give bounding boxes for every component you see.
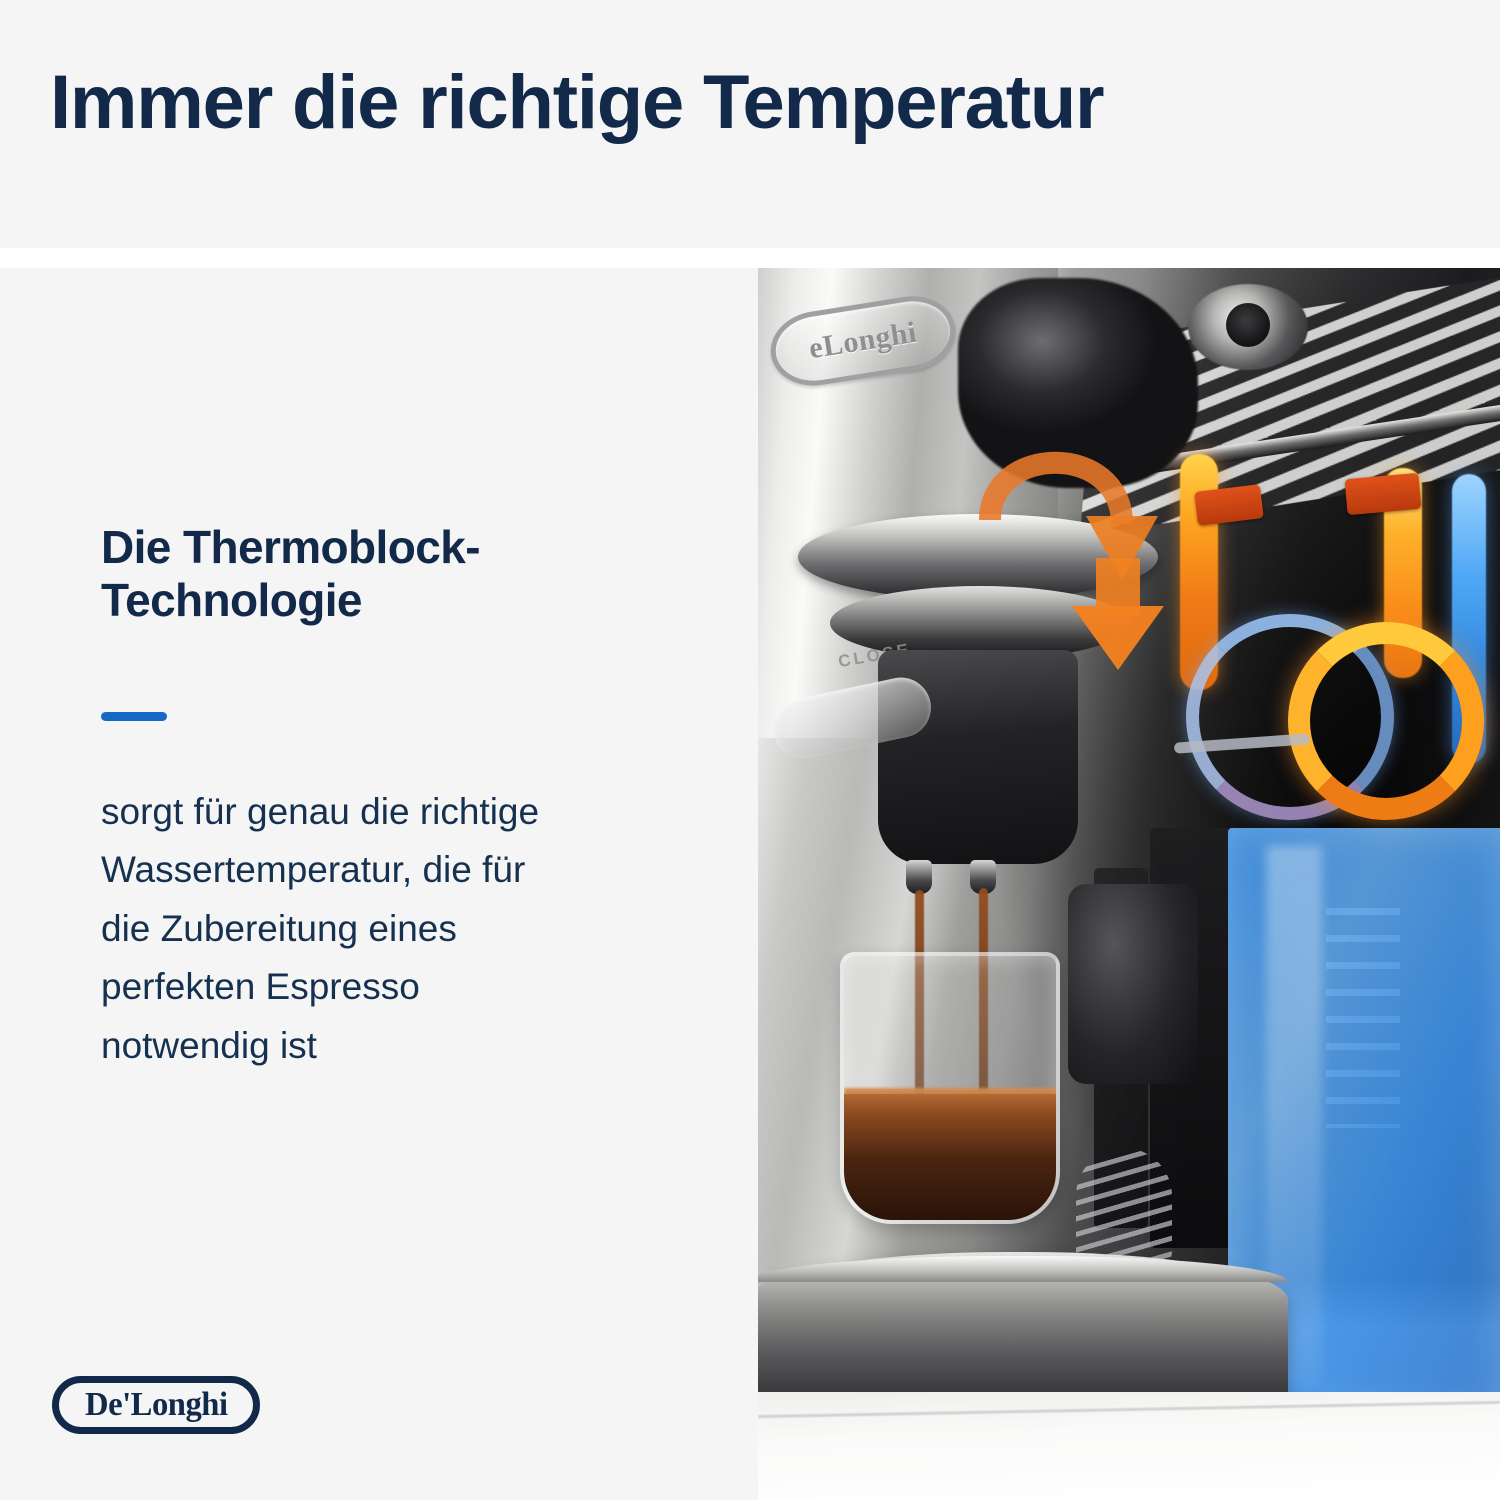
badge-text: eLonghi (807, 316, 920, 367)
header-divider (0, 248, 1500, 268)
machine-photo: eLonghi CLOSE (758, 268, 1500, 1500)
feature-subheading: Die Thermoblock-Technologie (101, 521, 701, 628)
product-image-panel: eLonghi CLOSE (758, 268, 1500, 1500)
text-column: Die Thermoblock-Technologie sorgt für ge… (0, 268, 758, 1500)
delonghi-logo: De'Longhi (52, 1376, 260, 1434)
pump-body (1068, 884, 1198, 1084)
accent-divider (101, 712, 167, 721)
drip-tray-lip (758, 1256, 1288, 1282)
thermoblock-coil-assembly (1158, 446, 1500, 846)
steam-knob-core (1226, 303, 1270, 347)
logo-wordmark: De'Longhi (85, 1388, 228, 1422)
coil-clamp-right (1345, 473, 1422, 515)
coil-clamp-left (1194, 484, 1264, 526)
feature-body-text: sorgt für genau die richtige Wassertempe… (101, 783, 571, 1075)
header-band: Immer die richtige Temperatur (0, 0, 1500, 248)
water-flow-arrow-icon (946, 408, 1186, 668)
content-area: Die Thermoblock-Technologie sorgt für ge… (0, 268, 1500, 1500)
page-title: Immer die richtige Temperatur (50, 62, 1103, 144)
spout-left (906, 860, 932, 894)
coffee-liquid (844, 1094, 1056, 1220)
promo-page: Immer die richtige Temperatur Die Thermo… (0, 0, 1500, 1500)
coil-hot-windings (1288, 622, 1484, 820)
espresso-glass (840, 952, 1060, 1224)
